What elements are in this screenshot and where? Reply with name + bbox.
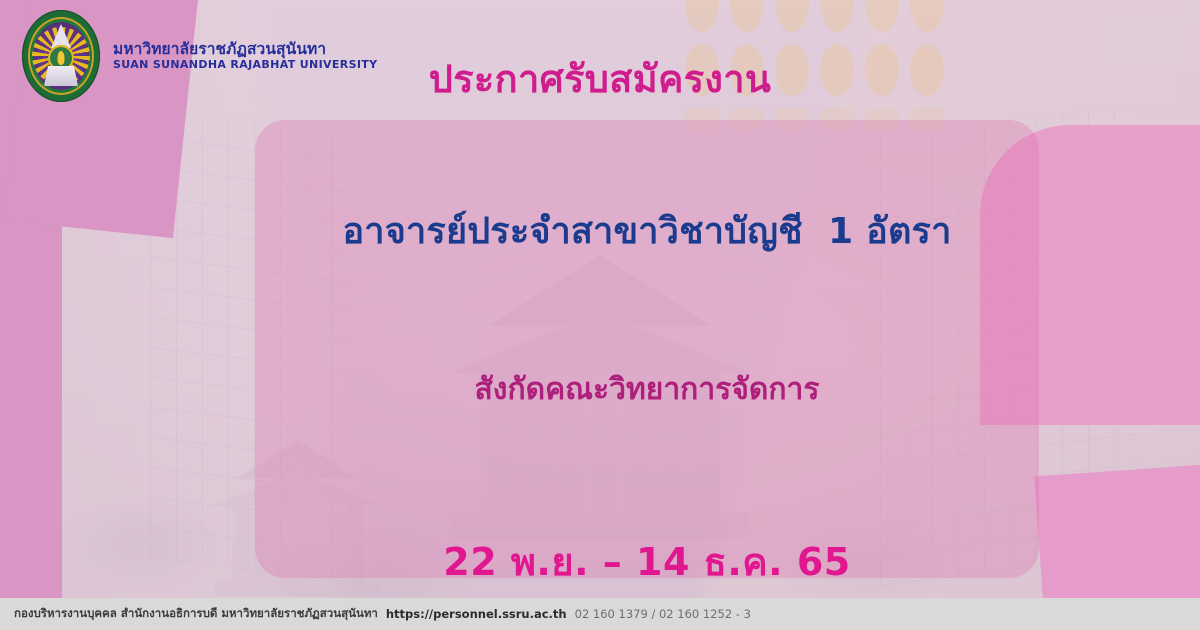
footer-contact-bar: กองบริหารงานบุคคล สำนักงานอธิการบดี มหาว…: [0, 598, 1200, 630]
footer-website-link[interactable]: https://personnel.ssru.ac.th: [386, 607, 567, 621]
job-announcement-poster: มหาวิทยาลัยราชภัฏสวนสุนันทา SUAN SUNANDH…: [0, 0, 1200, 630]
announcement-card: อาจารย์ประจำสาขาวิชาบัญชี 1 อัตรา สังกัด…: [255, 120, 1039, 578]
faculty-label: สังกัดคณะวิทยาการจัดการ: [475, 366, 820, 413]
footer-telephone: 02 160 1379 / 02 160 1252 - 3: [575, 607, 751, 621]
job-position-title: อาจารย์ประจำสาขาวิชาบัญชี 1 อัตรา: [342, 202, 951, 259]
footer-organization: กองบริหารงานบุคคล สำนักงานอธิการบดี มหาว…: [14, 605, 378, 623]
application-date-range: 22 พ.ย. – 14 ธ.ค. 65: [443, 531, 850, 592]
page-title: ประกาศรับสมัครงาน: [0, 48, 1200, 109]
